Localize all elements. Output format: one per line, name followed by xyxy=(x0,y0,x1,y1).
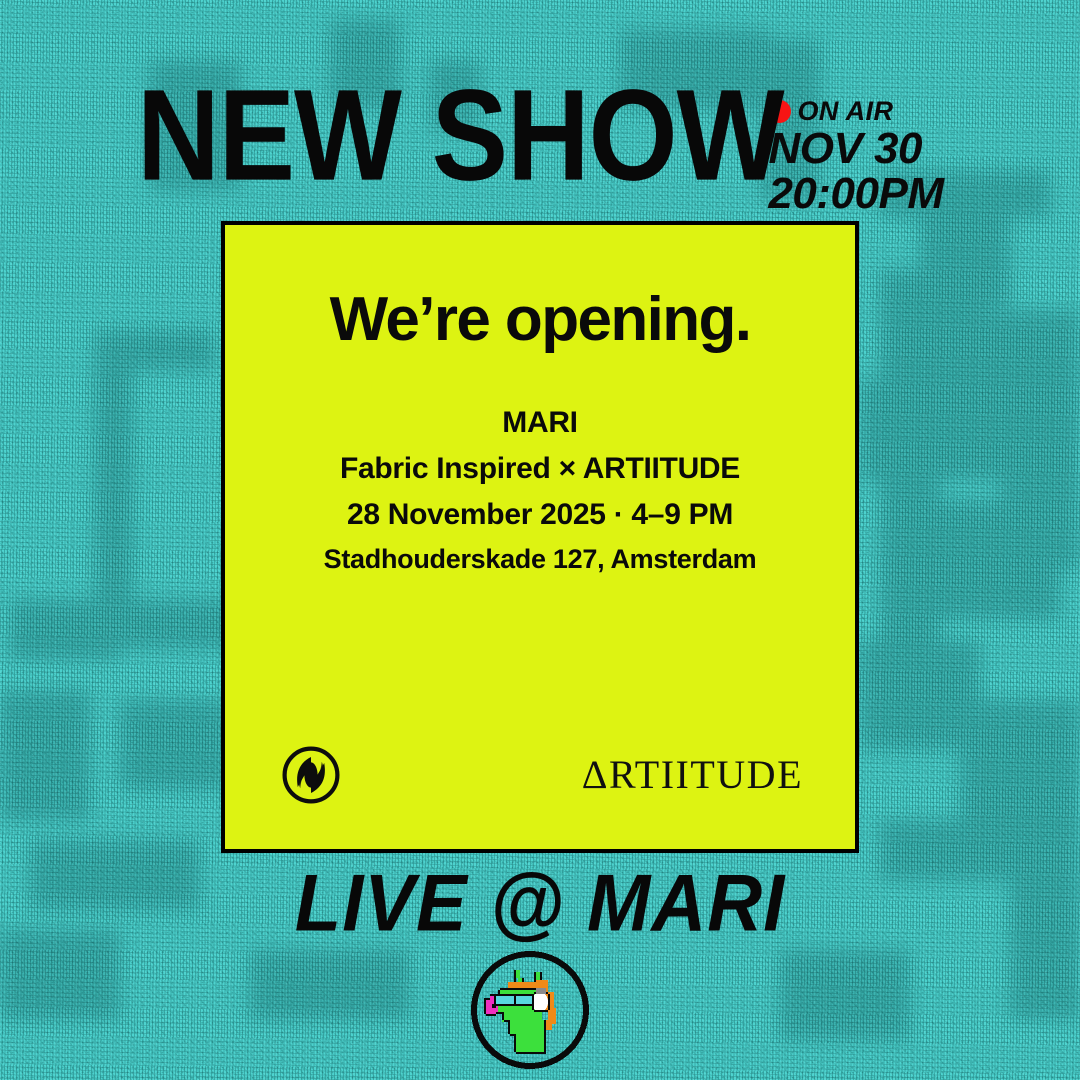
card-headline: We’re opening. xyxy=(261,287,819,352)
show-time: 20:00PM xyxy=(768,172,943,216)
page-title: NEW SHOW xyxy=(137,80,784,191)
detail-datetime: 28 November 2025 · 4–9 PM xyxy=(261,492,819,538)
card-details: MARI Fabric Inspired × ARTIITUDE 28 Nove… xyxy=(261,400,819,580)
poster-canvas: NEW SHOW ON AIR NOV 30 20:00PM We’re ope… xyxy=(0,0,1080,1080)
card-logo-row: ΔRTIITUDE xyxy=(261,745,819,819)
pixel-unicorn-badge-icon xyxy=(468,948,592,1072)
announcement-card: We’re opening. MARI Fabric Inspired × AR… xyxy=(221,221,859,853)
on-air-row: ON AIR xyxy=(768,98,943,125)
live-banner: LIVE @ MARI xyxy=(0,857,1080,949)
detail-venue: MARI xyxy=(261,400,819,446)
partner-wordmark: ΔRTIITUDE xyxy=(582,755,803,795)
header: NEW SHOW ON AIR NOV 30 20:00PM xyxy=(0,78,1080,216)
detail-collab: Fabric Inspired × ARTIITUDE xyxy=(261,446,819,492)
on-air-label: ON AIR xyxy=(797,98,893,125)
on-air-block: ON AIR NOV 30 20:00PM xyxy=(768,98,943,216)
detail-address: Stadhouderskade 127, Amsterdam xyxy=(261,539,819,581)
mari-swirl-logo-icon xyxy=(281,745,341,805)
show-date: NOV 30 xyxy=(768,127,943,171)
